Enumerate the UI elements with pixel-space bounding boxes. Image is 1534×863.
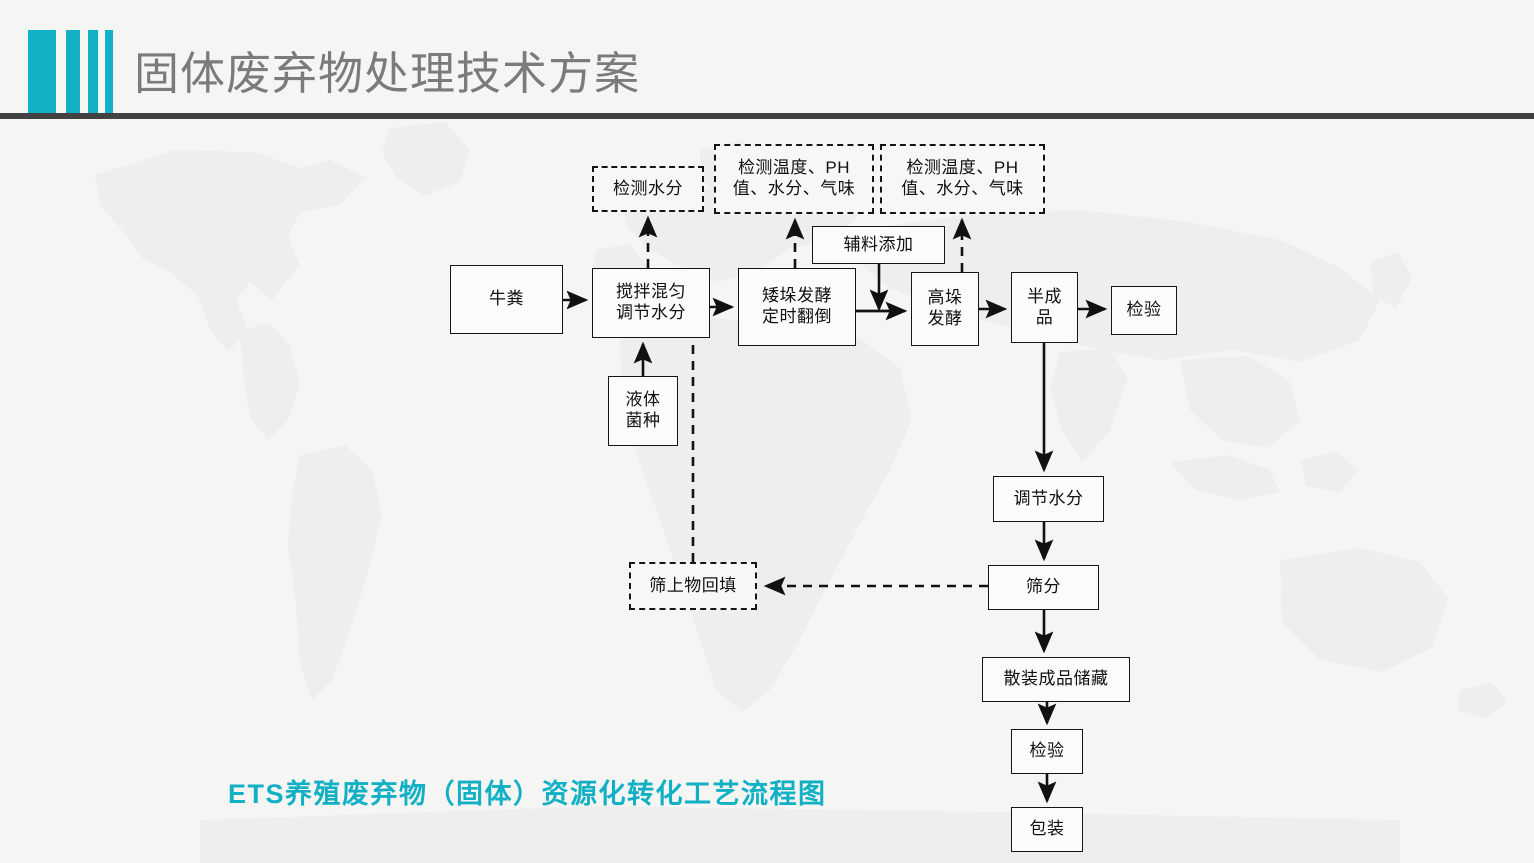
flow-node-label: 高垛发酵 bbox=[928, 288, 963, 329]
flow-node-label: 包装 bbox=[1030, 819, 1065, 840]
flow-node-label: 半成品 bbox=[1027, 287, 1062, 328]
flow-node-label: 筛上物回填 bbox=[649, 576, 737, 597]
flow-node-label: 检测温度、PH值、水分、气味 bbox=[901, 158, 1024, 199]
flow-node-label: 检测水分 bbox=[613, 179, 683, 200]
page-title: 固体废弃物处理技术方案 bbox=[134, 30, 640, 113]
flow-node-check-params-2: 检测温度、PH值、水分、气味 bbox=[880, 144, 1045, 214]
flow-node-check-params-1: 检测温度、PH值、水分、气味 bbox=[714, 144, 874, 214]
flow-node-check-moisture: 检测水分 bbox=[592, 166, 704, 212]
flow-node-liquid-strain: 液体菌种 bbox=[608, 376, 678, 446]
accent-bar-medium bbox=[66, 30, 80, 113]
page-header: 固体废弃物处理技术方案 bbox=[0, 0, 1534, 120]
flow-node-label: 检验 bbox=[1030, 741, 1065, 762]
flow-node-low-pile-ferment: 矮垛发酵定时翻倒 bbox=[738, 268, 856, 346]
flow-node-semi-product: 半成品 bbox=[1011, 272, 1078, 343]
flow-node-additive-add: 辅料添加 bbox=[812, 226, 945, 264]
flow-node-label: 检验 bbox=[1127, 300, 1162, 321]
accent-bar-wide bbox=[28, 30, 56, 113]
flow-node-high-pile-ferment: 高垛发酵 bbox=[911, 272, 979, 346]
flow-node-label: 散装成品储藏 bbox=[1004, 669, 1109, 690]
flow-node-screening: 筛分 bbox=[988, 565, 1099, 610]
flow-node-label: 液体菌种 bbox=[626, 390, 661, 431]
flow-node-cow-manure: 牛粪 bbox=[450, 265, 563, 334]
accent-bar-thin bbox=[105, 30, 113, 113]
flow-node-label: 牛粪 bbox=[489, 289, 524, 310]
flowchart: 牛粪搅拌混匀调节水分液体菌种检测水分矮垛发酵定时翻倒检测温度、PH值、水分、气味… bbox=[0, 119, 1534, 863]
accent-bar-narrow bbox=[88, 30, 98, 113]
flow-node-bulk-storage: 散装成品储藏 bbox=[982, 657, 1130, 702]
figure-caption: ETS养殖废弃物（固体）资源化转化工艺流程图 bbox=[228, 772, 827, 811]
flow-node-inspect-bottom: 检验 bbox=[1011, 729, 1083, 774]
flow-node-label: 矮垛发酵定时翻倒 bbox=[762, 286, 832, 327]
flow-node-inspect-top: 检验 bbox=[1111, 286, 1177, 335]
flow-node-label: 辅料添加 bbox=[844, 235, 914, 256]
flow-node-label: 调节水分 bbox=[1014, 489, 1084, 510]
flow-node-packaging: 包装 bbox=[1011, 807, 1083, 852]
flow-node-label: 搅拌混匀调节水分 bbox=[616, 282, 686, 323]
flow-node-mix-adjust: 搅拌混匀调节水分 bbox=[592, 268, 710, 338]
flowchart-edges bbox=[0, 119, 1534, 863]
flow-node-label: 检测温度、PH值、水分、气味 bbox=[733, 158, 856, 199]
flow-node-oversize-return: 筛上物回填 bbox=[629, 562, 757, 610]
flow-node-adjust-moisture: 调节水分 bbox=[993, 476, 1104, 522]
flow-node-label: 筛分 bbox=[1026, 577, 1061, 598]
